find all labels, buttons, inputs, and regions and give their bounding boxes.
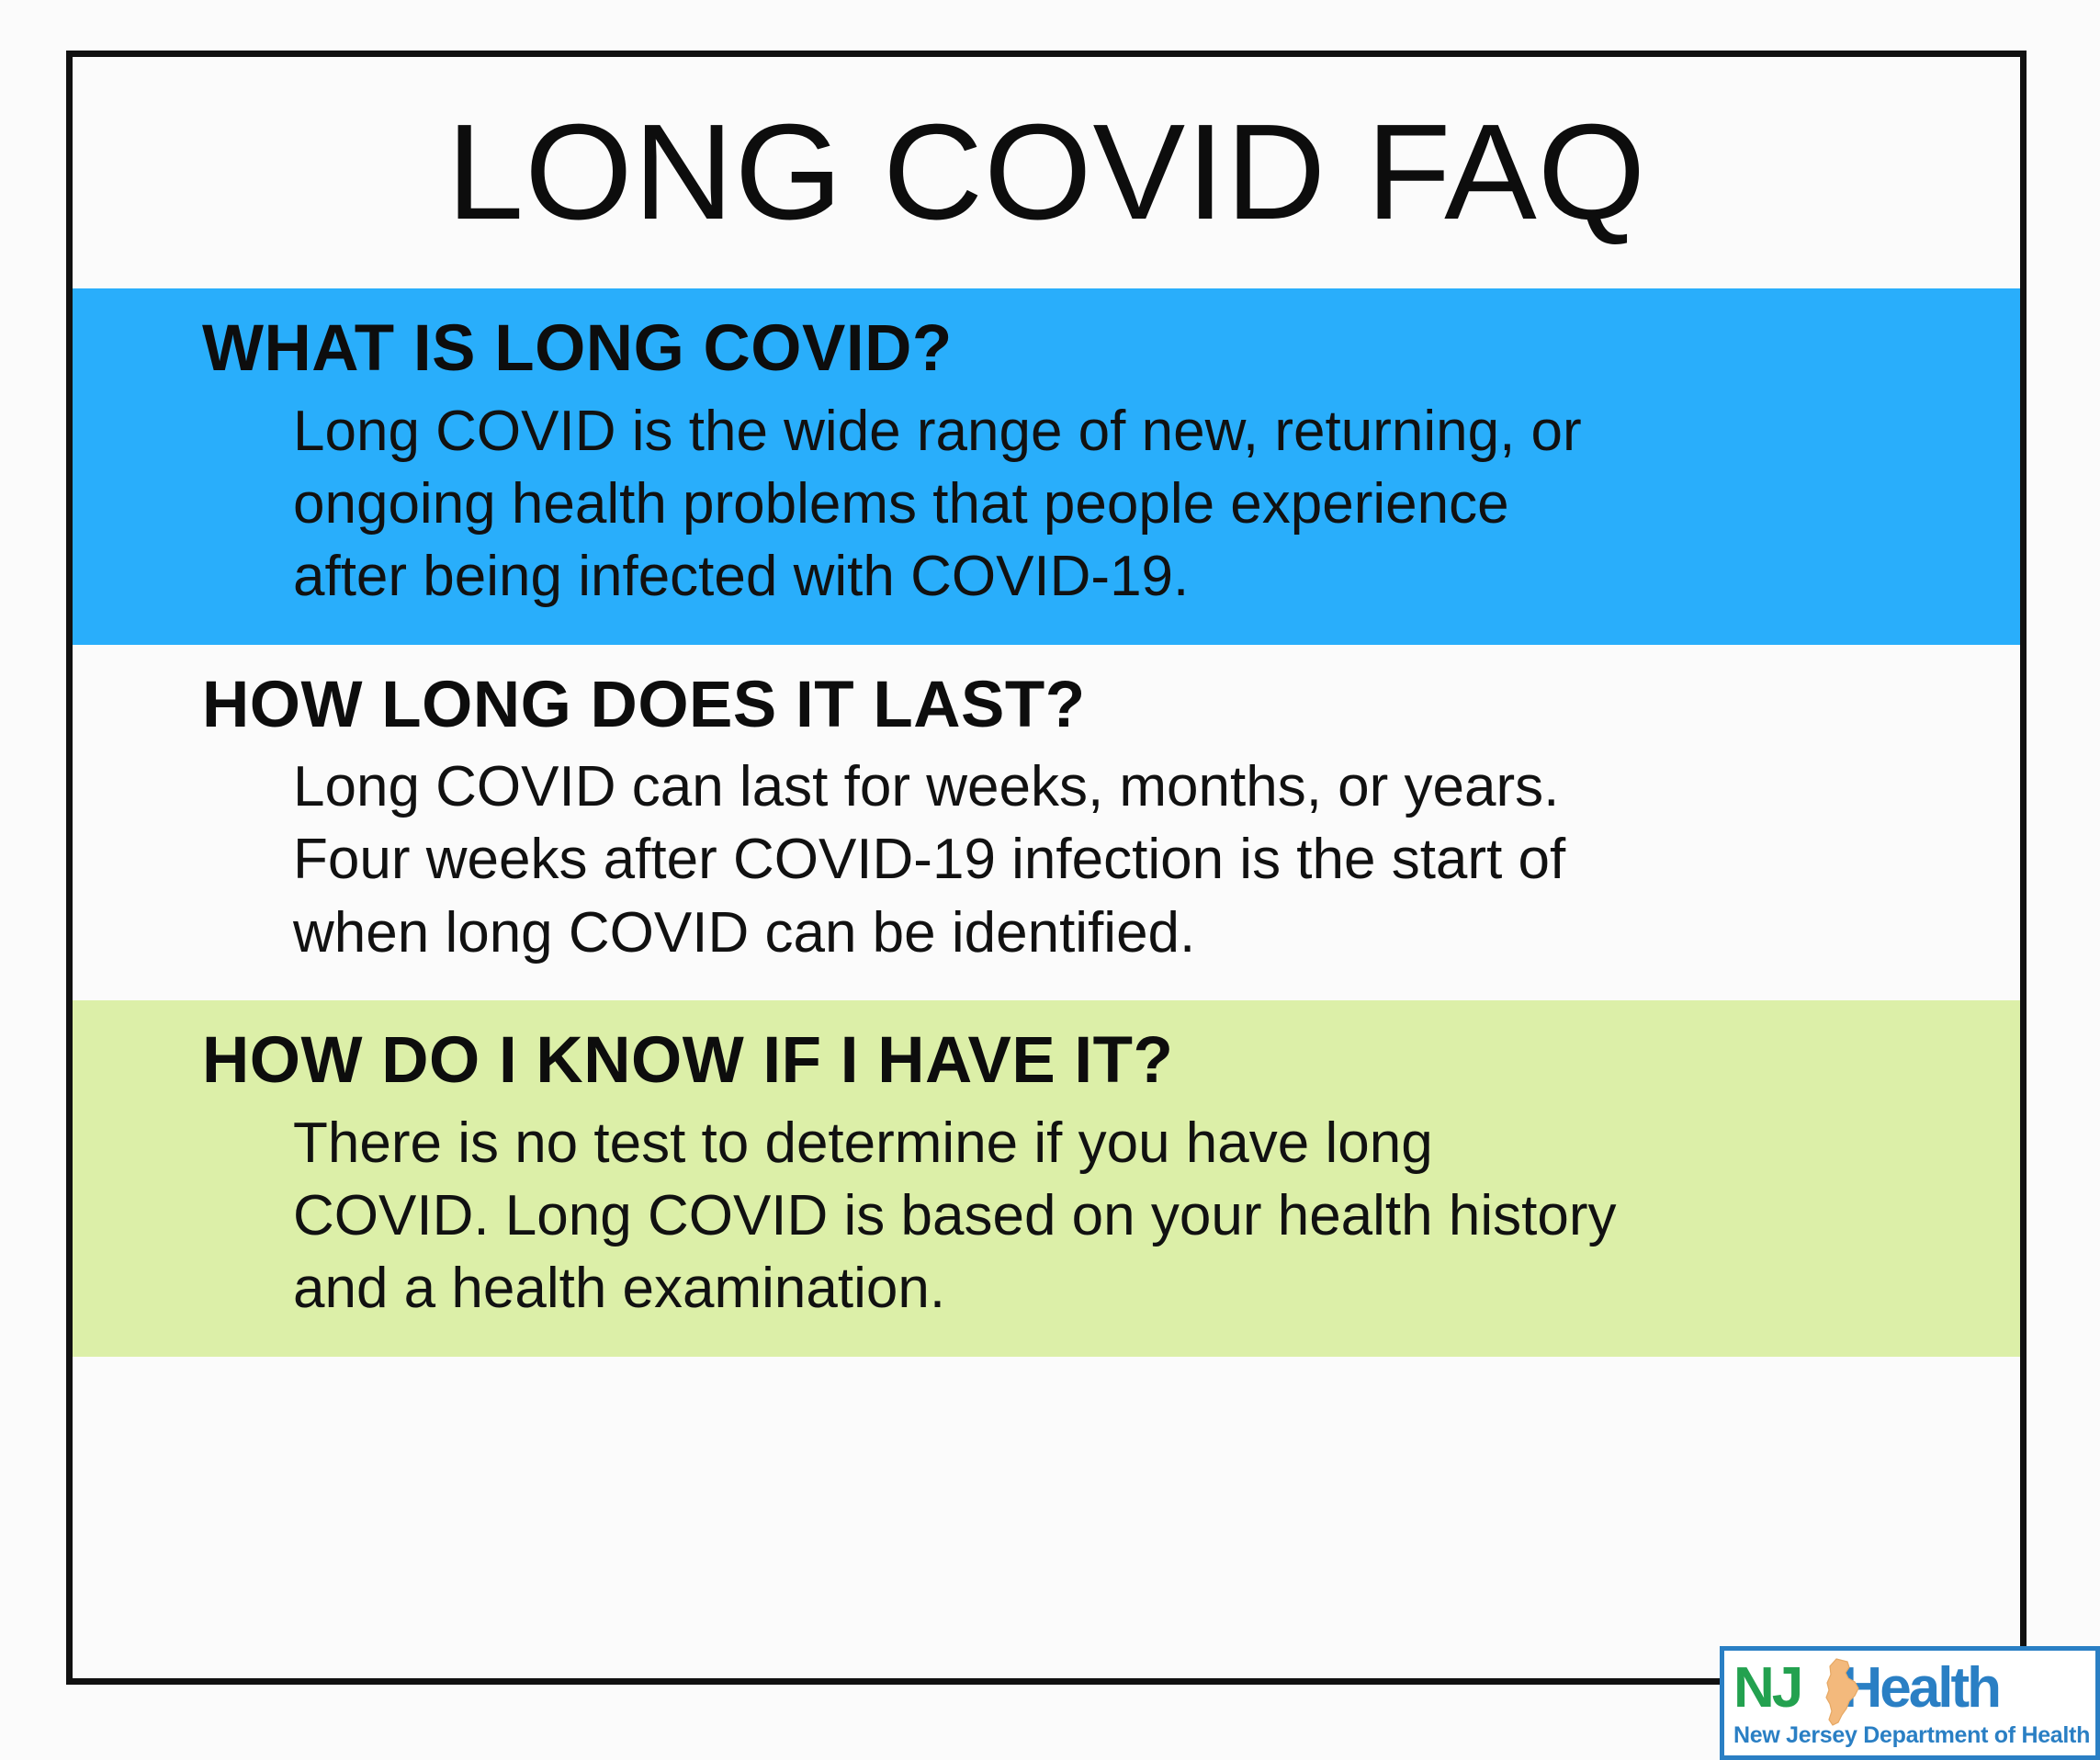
faq-heading-what-is-long-covid: WHAT IS LONG COVID?	[202, 312, 2020, 386]
faq-body-line: COVID. Long COVID is based on your healt…	[293, 1179, 1910, 1252]
faq-body-line: Long COVID can last for weeks, months, o…	[293, 750, 1910, 823]
faq-body-what-is-long-covid: Long COVID is the wide range of new, ret…	[293, 395, 1910, 614]
faq-body-line: There is no test to determine if you hav…	[293, 1107, 1910, 1179]
logo-tagline: New Jersey Department of Health	[1733, 1722, 2086, 1749]
nj-health-wordmark: NJ Health	[1733, 1656, 2086, 1721]
nj-health-logo: NJ Health New Jersey Department of Healt…	[1720, 1646, 2100, 1760]
faq-body-how-long-does-it-last: Long COVID can last for weeks, months, o…	[293, 750, 1910, 969]
faq-section-how-do-i-know-if-i-have-it: HOW DO I KNOW IF I HAVE IT? There is no …	[73, 1000, 2020, 1357]
faq-heading-how-long-does-it-last: HOW LONG DOES IT LAST?	[202, 669, 2020, 742]
title-block: LONG COVID FAQ	[73, 57, 2020, 288]
logo-health-text: Health	[1842, 1656, 1999, 1720]
faq-body-line: when long COVID can be identified.	[293, 897, 1910, 969]
faq-section-what-is-long-covid: WHAT IS LONG COVID? Long COVID is the wi…	[73, 288, 2020, 645]
poster-canvas: LONG COVID FAQ WHAT IS LONG COVID? Long …	[0, 0, 2100, 1760]
faq-body-line: after being infected with COVID-19.	[293, 540, 1910, 613]
faq-body-line: ongoing health problems that people expe…	[293, 468, 1910, 540]
logo-nj-text: NJ	[1733, 1656, 1801, 1720]
faq-body-line: Four weeks after COVID-19 infection is t…	[293, 823, 1910, 896]
faq-body-how-do-i-know-if-i-have-it: There is no test to determine if you hav…	[293, 1107, 1910, 1326]
page-title: LONG COVID FAQ	[446, 105, 1646, 241]
faq-card: LONG COVID FAQ WHAT IS LONG COVID? Long …	[66, 51, 2027, 1685]
faq-section-how-long-does-it-last: HOW LONG DOES IT LAST? Long COVID can la…	[73, 645, 2020, 1001]
faq-heading-how-do-i-know-if-i-have-it: HOW DO I KNOW IF I HAVE IT?	[202, 1024, 2020, 1098]
faq-body-line: Long COVID is the wide range of new, ret…	[293, 395, 1910, 468]
faq-body-line: and a health examination.	[293, 1252, 1910, 1325]
